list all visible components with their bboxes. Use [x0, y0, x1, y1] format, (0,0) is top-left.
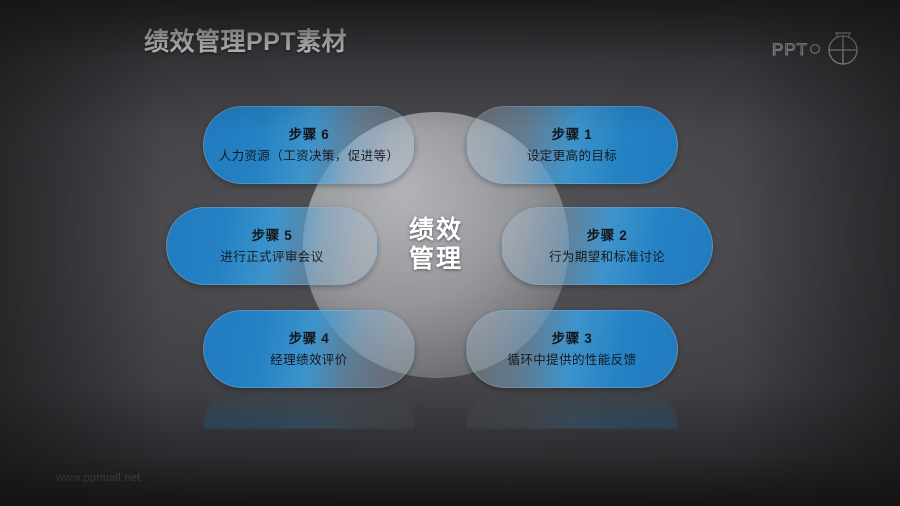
step-pill-3[interactable]: 步骤 3 循环中提供的性能反馈: [466, 310, 678, 388]
brand-logo: PPT: [772, 27, 876, 69]
pill-reflection: [466, 389, 678, 429]
step-pill-3-description: 循环中提供的性能反馈: [507, 354, 636, 367]
step-pill-4-description: 经理绩效评价: [270, 354, 347, 367]
page-title: 绩效管理PPT素材: [144, 22, 347, 58]
step-pill-1[interactable]: 步骤 1 设定更高的目标: [466, 106, 678, 184]
step-pill-6-description: 人力资源（工资决策，促进等）: [219, 150, 400, 163]
step-pill-1-label: 步骤 1: [552, 128, 593, 142]
step-pill-6[interactable]: 步骤 6 人力资源（工资决策，促进等）: [203, 106, 415, 184]
step-pill-1-description: 设定更高的目标: [527, 150, 617, 163]
ppt-crosshair-logo-icon: PPT: [772, 27, 876, 69]
footer-url: www.pptmall.net: [56, 472, 141, 484]
svg-text:PPT: PPT: [772, 40, 808, 59]
pill-reflection: [203, 389, 415, 429]
step-pill-4[interactable]: 步骤 4 经理绩效评价: [203, 310, 415, 388]
step-pill-3-label: 步骤 3: [552, 332, 593, 346]
step-pill-5-label: 步骤 5: [252, 229, 293, 243]
step-pill-6-label: 步骤 6: [289, 128, 330, 142]
presentation-slide: 绩效管理PPT素材 PPT 绩效 管理 步骤 6 人力资源（工资决策，促进等） …: [0, 0, 900, 506]
step-pill-2[interactable]: 步骤 2 行为期望和标准讨论: [501, 207, 713, 285]
step-pill-2-description: 行为期望和标准讨论: [549, 251, 665, 264]
step-pill-4-label: 步骤 4: [289, 332, 330, 346]
step-pill-5-description: 进行正式评审会议: [220, 251, 323, 264]
step-pill-2-label: 步骤 2: [587, 229, 628, 243]
step-pill-5[interactable]: 步骤 5 进行正式评审会议: [166, 207, 378, 285]
